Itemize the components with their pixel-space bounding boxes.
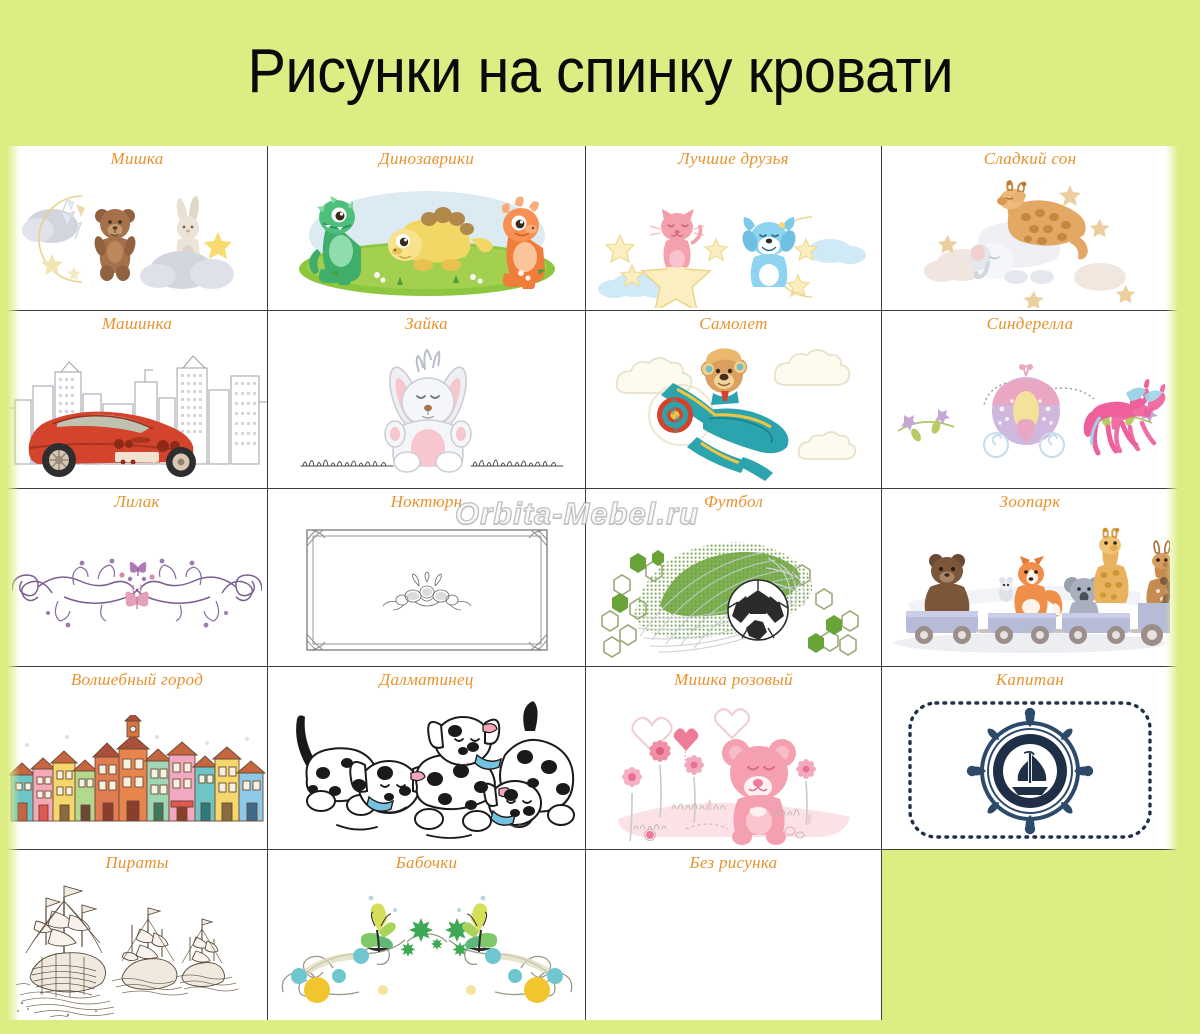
grid-cell-bez-risunka[interactable]: Без рисунка <box>586 850 882 1020</box>
cell-label: Машинка <box>7 314 267 334</box>
cell-label: Зайка <box>268 314 585 334</box>
animal-train-with-bear-fox-giraffe-deer-icon <box>882 513 1178 666</box>
grid-cell-volshebnyy-gorod[interactable]: Волшебный город <box>7 667 268 850</box>
pink-teddy-bear-with-flowers-and-hearts-icon <box>586 691 881 849</box>
grey-bunny-sitting-in-grass-icon <box>268 335 585 488</box>
three-pirate-sailing-ships-engraving-icon <box>7 874 267 1020</box>
cell-label: Мишка <box>7 149 267 169</box>
page-header: Рисунки на спинку кровати <box>0 0 1200 146</box>
cell-label: Капитан <box>882 670 1178 690</box>
grid-cell-samolet[interactable]: Самолет <box>586 311 882 489</box>
grid-cell-zayka[interactable]: Зайка <box>268 311 586 489</box>
cinderella-pumpkin-carriage-with-horses-icon <box>882 335 1178 488</box>
ship-wheel-with-sailboat-in-dotted-frame-icon <box>882 691 1178 849</box>
giraffe-and-elephant-sleeping-on-moon-icon <box>882 170 1178 310</box>
cell-label: Пираты <box>7 853 267 873</box>
grid-cell-futbol[interactable]: Футбол <box>586 489 882 667</box>
page-title: Рисунки на спинку кровати <box>247 36 953 107</box>
bear-pilot-in-biplane-with-clouds-icon <box>586 335 881 488</box>
cell-label: Ноктюрн <box>268 492 585 512</box>
cell-label: Синдерелла <box>882 314 1178 334</box>
cell-label: Сладкий сон <box>882 149 1178 169</box>
grid-cell-sladkiy-son[interactable]: Сладкий сон <box>882 146 1178 311</box>
grid-cell-dinozavriki[interactable]: Динозаврики <box>268 146 586 311</box>
grid-cell-zoopark[interactable]: Зоопарк <box>882 489 1178 667</box>
cell-label: Лучшие друзья <box>586 149 881 169</box>
pink-kitten-on-star-and-blue-puppy-on-moon-icon <box>586 170 881 310</box>
cell-label: Динозаврики <box>268 149 585 169</box>
cell-label: Футбол <box>586 492 881 512</box>
grid-cell-mishka-rozovyy[interactable]: Мишка розовый <box>586 667 882 850</box>
grid-cell-sinderella[interactable]: Синдерелла <box>882 311 1178 489</box>
soccer-ball-in-net-with-hexagons-icon <box>586 513 881 666</box>
purple-floral-swirl-ornament-with-butterfly-icon <box>7 513 267 666</box>
grid-cell-empty <box>882 850 1178 1020</box>
cell-label: Лилак <box>7 492 267 512</box>
grid-cell-dalmatinets[interactable]: Далматинец <box>268 667 586 850</box>
cell-label: Самолет <box>586 314 881 334</box>
five-dalmatian-puppies-playing-icon <box>268 691 585 849</box>
grid-cell-piraty[interactable]: Пираты <box>7 850 268 1020</box>
cell-label: Без рисунка <box>586 853 881 873</box>
grid-cell-mashinka[interactable]: Машинка <box>7 311 268 489</box>
classic-rectangular-frame-with-floral-center-icon <box>268 513 585 666</box>
cell-label: Зоопарк <box>882 492 1178 512</box>
grid-cell-noktyurn[interactable]: Ноктюрн <box>268 489 586 667</box>
grid-cell-lilak[interactable]: Лилак <box>7 489 268 667</box>
cell-label: Волшебный город <box>7 670 267 690</box>
grid-cell-mishka[interactable]: Мишка <box>7 146 268 311</box>
cell-label: Бабочки <box>268 853 585 873</box>
cell-label: Далматинец <box>268 670 585 690</box>
cell-label: Мишка розовый <box>586 670 881 690</box>
grid-cell-luchshie-druzya[interactable]: Лучшие друзья <box>586 146 882 311</box>
pattern-grid: Мишка <box>7 146 1178 1020</box>
grid-cell-kapitan[interactable]: Капитан <box>882 667 1178 850</box>
three-cartoon-dinosaurs-on-grass-icon <box>268 170 585 310</box>
red-sports-car-with-city-skyline-icon <box>7 335 267 488</box>
butterflies-with-swirls-and-dots-icon <box>268 874 585 1020</box>
teddy-bear-on-moon-with-bunny-and-clouds-icon <box>7 170 267 310</box>
page-root: Рисунки на спинку кровати Мишка <box>0 0 1200 1034</box>
colorful-european-townhouses-row-icon <box>7 691 267 849</box>
grid-cell-babochki[interactable]: Бабочки <box>268 850 586 1020</box>
